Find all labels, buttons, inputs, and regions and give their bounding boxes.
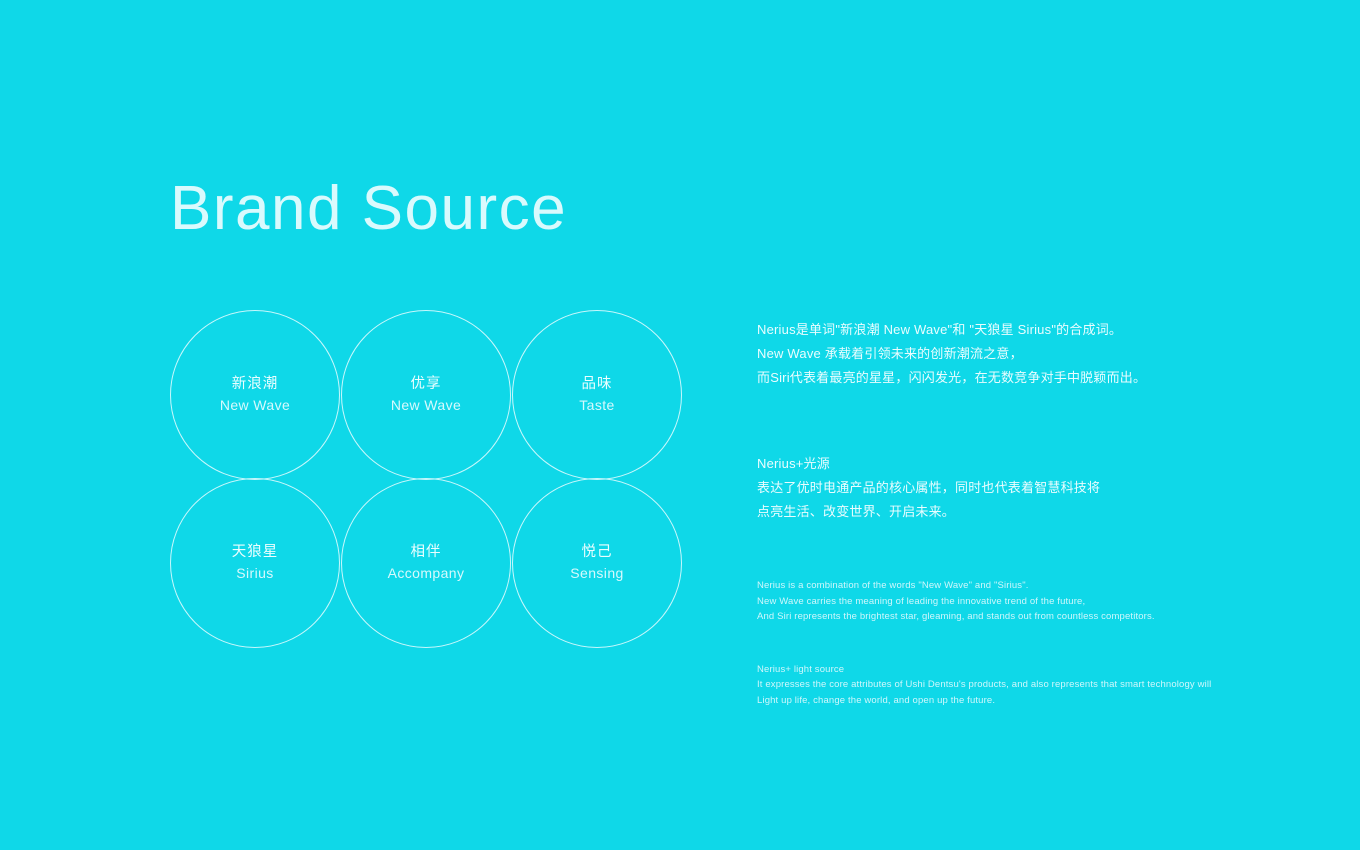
paragraph-line: Light up life, change the world, and ope… [757,693,1227,709]
chinese-paragraph-primary: Nerius是单词"新浪潮 New Wave"和 "天狼星 Sirius"的合成… [757,318,1227,390]
circle-node-label-en: New Wave [220,395,290,416]
circle-node-label-en: Accompany [388,563,465,584]
paragraph-line: It expresses the core attributes of Ushi… [757,677,1227,693]
chinese-paragraph-secondary: Nerius+光源 表达了优时电通产品的核心属性，同时也代表着智慧科技将 点亮生… [757,452,1227,524]
paragraph-line: 点亮生活、改变世界、开启未来。 [757,500,1227,524]
venn-circle-cluster: 新浪潮 New Wave 优享 New Wave 品味 Taste 天狼星 Si… [170,310,682,650]
english-paragraph-secondary: Nerius+ light source It expresses the co… [757,662,1227,709]
circle-node-label-en: Sensing [570,563,623,584]
paragraph-line: New Wave carries the meaning of leading … [757,594,1227,610]
paragraph-line: Nerius is a combination of the words "Ne… [757,578,1227,594]
paragraph-heading: Nerius+ light source [757,662,1227,678]
circle-node-label-cn: 相伴 [411,542,442,563]
circle-node-label-cn: 天狼星 [232,542,279,563]
circle-node-label-cn: 品味 [582,374,613,395]
circle-node-new-wave-1: 新浪潮 New Wave [170,310,340,480]
circle-node-label-cn: 新浪潮 [232,374,279,395]
paragraph-line: New Wave 承载着引领未来的创新潮流之意， [757,342,1227,366]
paragraph-line: 表达了优时电通产品的核心属性，同时也代表着智慧科技将 [757,476,1227,500]
paragraph-line: 而Siri代表着最亮的星星，闪闪发光，在无数竞争对手中脱颖而出。 [757,366,1227,390]
brand-source-slide: Brand Source 新浪潮 New Wave 优享 New Wave 品味… [0,0,1360,850]
circle-node-label-cn: 优享 [411,374,442,395]
page-title: Brand Source [170,178,567,240]
circle-node-label-en: Taste [579,395,614,416]
circle-node-accompany: 相伴 Accompany [341,478,511,648]
circle-node-sirius: 天狼星 Sirius [170,478,340,648]
paragraph-line: Nerius是单词"新浪潮 New Wave"和 "天狼星 Sirius"的合成… [757,318,1227,342]
circle-node-label-en: Sirius [236,563,273,584]
paragraph-line: And Siri represents the brightest star, … [757,609,1227,625]
circle-node-sensing: 悦己 Sensing [512,478,682,648]
circle-node-new-wave-2: 优享 New Wave [341,310,511,480]
circle-node-taste: 品味 Taste [512,310,682,480]
paragraph-heading: Nerius+光源 [757,452,1227,476]
circle-node-label-cn: 悦己 [582,542,613,563]
description-column: Nerius是单词"新浪潮 New Wave"和 "天狼星 Sirius"的合成… [757,318,1227,708]
english-paragraph-primary: Nerius is a combination of the words "Ne… [757,578,1227,625]
circle-node-label-en: New Wave [391,395,461,416]
